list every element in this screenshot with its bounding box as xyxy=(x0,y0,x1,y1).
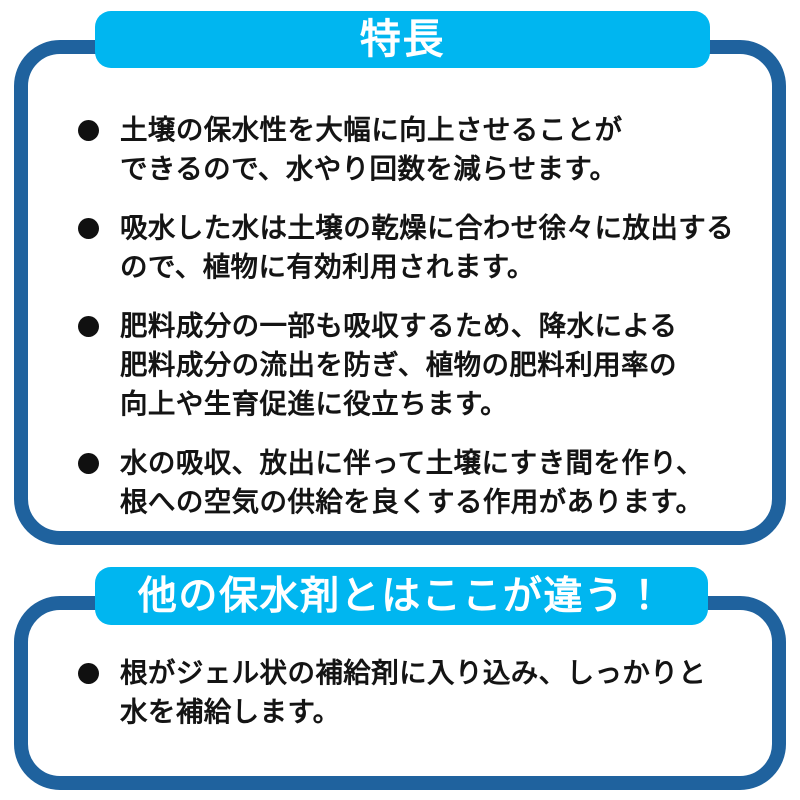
list-item-text: 水の吸収、放出に伴って土壌にすき間を作り、 根への空気の供給を良くする作用があり… xyxy=(120,444,752,522)
list-item-text: 肥料成分の一部も吸収するため、降水による 肥料成分の流出を防ぎ、植物の肥料利用率… xyxy=(120,307,752,424)
list-item: 吸水した水は土壌の乾燥に合わせ徐々に放出する ので、植物に有効利用されます。 xyxy=(78,209,752,287)
difference-bullet-list: 根がジェル状の補給剤に入り込み、しっかりと 水を補給します。 xyxy=(78,654,752,732)
filled-circle-bullet-icon xyxy=(78,120,99,141)
features-header-badge: 特長 xyxy=(95,11,710,68)
text-line: 水の吸収、放出に伴って土壌にすき間を作り、 xyxy=(120,444,752,483)
text-line: 吸水した水は土壌の乾燥に合わせ徐々に放出する xyxy=(120,209,752,248)
text-line: できるので、水やり回数を減らせます。 xyxy=(120,150,752,189)
features-panel: 土壌の保水性を大幅に向上させることが できるので、水やり回数を減らせます。 吸水… xyxy=(14,40,786,545)
difference-badge-title: 他の保水剤とはここが違う！ xyxy=(138,577,665,616)
text-line: 土壌の保水性を大幅に向上させることが xyxy=(120,111,752,150)
list-item-text: 土壌の保水性を大幅に向上させることが できるので、水やり回数を減らせます。 xyxy=(120,111,752,189)
difference-header-badge: 他の保水剤とはここが違う！ xyxy=(95,567,708,625)
difference-panel: 根がジェル状の補給剤に入り込み、しっかりと 水を補給します。 xyxy=(14,596,786,790)
filled-circle-bullet-icon xyxy=(78,218,99,239)
list-item-text: 根がジェル状の補給剤に入り込み、しっかりと 水を補給します。 xyxy=(120,654,752,732)
poster-root: 土壌の保水性を大幅に向上させることが できるので、水やり回数を減らせます。 吸水… xyxy=(0,0,800,800)
features-badge-title: 特長 xyxy=(360,19,445,60)
text-line: ので、植物に有効利用されます。 xyxy=(120,248,752,287)
text-line: 向上や生育促進に役立ちます。 xyxy=(120,385,752,424)
text-line: 根がジェル状の補給剤に入り込み、しっかりと xyxy=(120,654,752,693)
filled-circle-bullet-icon xyxy=(78,453,99,474)
list-item: 肥料成分の一部も吸収するため、降水による 肥料成分の流出を防ぎ、植物の肥料利用率… xyxy=(78,307,752,424)
list-item: 土壌の保水性を大幅に向上させることが できるので、水やり回数を減らせます。 xyxy=(78,111,752,189)
text-line: 根への空気の供給を良くする作用があります。 xyxy=(120,483,752,522)
text-line: 水を補給します。 xyxy=(120,693,752,732)
list-item-text: 吸水した水は土壌の乾燥に合わせ徐々に放出する ので、植物に有効利用されます。 xyxy=(120,209,752,287)
list-item: 水の吸収、放出に伴って土壌にすき間を作り、 根への空気の供給を良くする作用があり… xyxy=(78,444,752,522)
features-bullet-list: 土壌の保水性を大幅に向上させることが できるので、水やり回数を減らせます。 吸水… xyxy=(78,111,752,522)
filled-circle-bullet-icon xyxy=(78,316,99,337)
list-item: 根がジェル状の補給剤に入り込み、しっかりと 水を補給します。 xyxy=(78,654,752,732)
text-line: 肥料成分の一部も吸収するため、降水による xyxy=(120,307,752,346)
filled-circle-bullet-icon xyxy=(78,663,99,684)
text-line: 肥料成分の流出を防ぎ、植物の肥料利用率の xyxy=(120,346,752,385)
